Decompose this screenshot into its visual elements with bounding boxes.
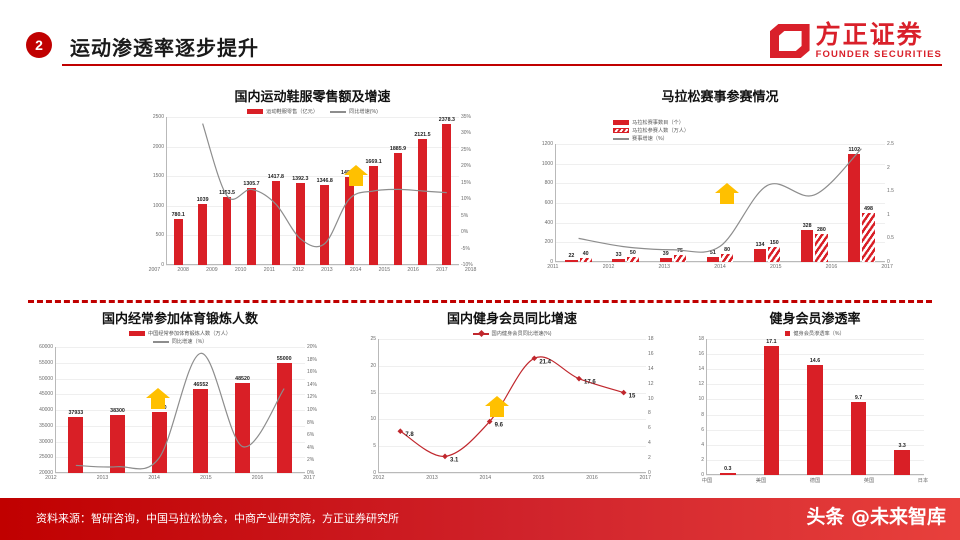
x-axis-tick: 2014 [459, 475, 512, 481]
secondary-y-axis-tick: 2 [648, 455, 651, 461]
legend-item: 运动鞋服零售（亿元） [247, 108, 318, 115]
y-axis-tick: 20000 [39, 470, 53, 476]
chart-legend: 马拉松赛事数目（个） 马拉松参赛人数（万人） 赛事增速（%） [525, 119, 915, 142]
legend-swatch-bar [613, 120, 629, 125]
logo-chinese-name: 方正证券 [816, 22, 942, 47]
x-axis-tick: 2010 [226, 267, 255, 273]
logo-mark-icon [770, 24, 810, 58]
secondary-y-axis-tick: 10% [461, 196, 471, 202]
legend-item: 马拉松赛事数目（个） [613, 119, 684, 126]
secondary-y-axis: 35%30%25%20%15%10%5%0%-5%-10% [459, 117, 487, 265]
legend-swatch-bar [247, 109, 263, 114]
y-axis-tick: 12 [698, 381, 704, 387]
chart-gym-penetration: 健身会员渗透率 健身会员渗透率（%） 1816141210864200.317.… [680, 308, 950, 498]
data-point-marker [576, 376, 582, 382]
secondary-y-axis-tick: 1.5 [887, 188, 894, 194]
secondary-y-axis: 181614121086420 [646, 339, 674, 473]
legend-label: 同比增速(%) [349, 108, 378, 115]
page-title: 运动渗透率逐步提升 [70, 32, 259, 61]
plot-area: 6000055000500004500040000350003000025000… [55, 347, 305, 473]
data-point-marker [621, 390, 627, 396]
secondary-y-axis-tick: 30% [461, 130, 471, 136]
x-axis-tick: 2016 [804, 264, 860, 270]
x-axis-labels: 201220132014201520162017 [25, 475, 335, 481]
legend-swatch-line [330, 111, 346, 113]
secondary-y-axis-tick: -5% [461, 246, 470, 252]
line-series-layer: 7.83.19.621.417.615 [378, 339, 646, 473]
secondary-y-axis-tick: 2.5 [887, 141, 894, 147]
data-point-label: 7.8 [405, 432, 414, 438]
x-axis-tick: 德国 [788, 477, 842, 484]
up-arrow-icon [484, 395, 510, 419]
chart-legend: 健身会员渗透率（%） [680, 330, 950, 337]
secondary-y-axis-tick: 20% [461, 163, 471, 169]
secondary-y-axis-tick: 0% [461, 229, 468, 235]
x-axis-tick: 2013 [405, 475, 458, 481]
x-axis-tick: 2015 [370, 267, 399, 273]
chart-sportswear-retail: 国内运动鞋服零售额及增速 运动鞋服零售（亿元） 同比增速(%) 25002000… [140, 86, 485, 291]
legend-label: 国内健身会员同比增速(%) [492, 330, 552, 337]
y-axis-tick: 25000 [39, 454, 53, 460]
y-axis-tick: 60000 [39, 344, 53, 350]
y-axis-tick: 500 [156, 232, 164, 238]
data-point-label: 9.6 [495, 423, 504, 429]
x-axis-tick: 2017 [619, 475, 672, 481]
data-point-marker [442, 454, 448, 460]
legend-item: 国内健身会员同比增速(%) [473, 330, 552, 337]
y-axis-tick: 1200 [542, 141, 553, 147]
chart-sports-participants: 国内经常参加体育锻炼人数 中国经常参加体育锻炼人数（万人） 同比增速（%） 60… [25, 308, 335, 498]
up-arrow-icon [714, 182, 740, 206]
x-axis-tick: 2014 [341, 267, 370, 273]
secondary-y-axis-tick: 16% [307, 369, 317, 375]
legend-label: 中国经常参加体育锻炼人数（万人） [148, 330, 231, 337]
up-arrow-icon [343, 164, 369, 188]
y-axis-tick: 600 [545, 200, 553, 206]
y-axis-tick: 25 [370, 336, 376, 342]
secondary-y-axis-tick: 1 [887, 212, 890, 218]
secondary-y-axis-tick: 6 [648, 425, 651, 431]
y-axis-tick: 2500 [153, 114, 164, 120]
chart-legend: 运动鞋服零售（亿元） 同比增速(%) [140, 108, 485, 115]
data-point-label: 17.6 [584, 380, 596, 386]
secondary-y-axis-tick: 12% [307, 394, 317, 400]
x-axis-tick: 2013 [313, 267, 342, 273]
legend-label: 马拉松参赛人数（万人） [632, 127, 689, 134]
title-underline [62, 64, 942, 66]
y-axis-tick: 2 [701, 457, 704, 463]
y-axis-tick: 1000 [153, 203, 164, 209]
y-axis-tick: 10 [698, 396, 704, 402]
y-axis-tick: 800 [545, 180, 553, 186]
secondary-y-axis-tick: 18% [307, 357, 317, 363]
x-axis-tick: 2015 [512, 475, 565, 481]
secondary-y-axis-tick: 5% [461, 213, 468, 219]
secondary-y-axis-tick: 12 [648, 381, 654, 387]
x-axis-tick: 2015 [748, 264, 804, 270]
x-axis-tick: 2016 [232, 475, 284, 481]
x-axis-tick: 2015 [180, 475, 232, 481]
x-axis-tick: 2013 [77, 475, 129, 481]
legend-item: 马拉松参赛人数（万人） [613, 127, 689, 134]
series-line [76, 353, 284, 469]
chart-title: 健身会员渗透率 [680, 308, 950, 327]
plot-area: 2500200015001000500035%30%25%20%15%10%5%… [166, 117, 459, 265]
line-series-layer [55, 347, 305, 473]
y-axis-tick: 20 [370, 363, 376, 369]
secondary-y-axis-tick: 16 [648, 351, 654, 357]
y-axis-tick: 200 [545, 239, 553, 245]
section-number-badge: 2 [26, 32, 52, 58]
chart-legend: 中国经常参加体育锻炼人数（万人） 同比增速（%） [25, 330, 335, 345]
x-axis-tick: 2009 [198, 267, 227, 273]
secondary-y-axis-tick: 10 [648, 396, 654, 402]
y-axis: 25002000150010005000 [138, 117, 166, 265]
x-axis-labels: 2007200820092010201120122013201420152016… [140, 267, 485, 273]
x-axis-tick: 2013 [636, 264, 692, 270]
secondary-y-axis-tick: 10% [307, 407, 317, 413]
legend-label: 马拉松赛事数目（个） [632, 119, 684, 126]
y-axis-tick: 50000 [39, 376, 53, 382]
chart-title: 马拉松赛事参赛情况 [525, 86, 915, 105]
x-axis-tick: 2012 [352, 475, 405, 481]
secondary-y-axis-tick: 2% [307, 457, 314, 463]
plot-area: 1200100080060040020002.521.510.502240335… [555, 144, 885, 262]
up-arrow-icon [145, 387, 171, 411]
slide-header: 2 运动渗透率逐步提升 方正证券 FOUNDER SECURITIES [0, 0, 960, 72]
secondary-y-axis-tick: 35% [461, 114, 471, 120]
legend-swatch-line [153, 341, 169, 343]
x-axis-tick: 2016 [399, 267, 428, 273]
gridline [166, 265, 459, 266]
legend-item: 同比增速(%) [330, 108, 378, 115]
secondary-y-axis-tick: 8 [648, 410, 651, 416]
y-axis-tick: 16 [698, 351, 704, 357]
secondary-y-axis-tick: -10% [461, 262, 473, 268]
y-axis-tick: 5 [373, 443, 376, 449]
secondary-y-axis-tick: 25% [461, 147, 471, 153]
secondary-y-axis: 20%18%16%14%12%10%8%6%4%2%0% [305, 347, 333, 473]
watermark-label: 头条 @未来智库 [806, 502, 946, 529]
chart-title: 国内运动鞋服零售额及增速 [140, 86, 485, 105]
y-axis-tick: 0 [373, 470, 376, 476]
gridline [55, 473, 305, 474]
x-axis-tick: 2017 [428, 267, 457, 273]
secondary-y-axis-tick: 2 [887, 165, 890, 171]
x-axis-labels: 2011201220132014201520162017 [525, 264, 915, 270]
legend-label: 运动鞋服零售（亿元） [266, 108, 318, 115]
gridline [555, 262, 885, 263]
y-axis: 120010008006004002000 [527, 144, 555, 262]
secondary-y-axis-tick: 4 [648, 440, 651, 446]
secondary-y-axis-tick: 14% [307, 382, 317, 388]
legend-swatch-line [613, 138, 629, 140]
series-line [400, 357, 623, 457]
y-axis: 181614121086420 [678, 339, 706, 475]
secondary-y-axis-tick: 4% [307, 445, 314, 451]
y-axis-tick: 2000 [153, 144, 164, 150]
section-divider [28, 300, 932, 303]
x-axis-tick: 2011 [255, 267, 284, 273]
legend-label: 赛事增速（%） [632, 135, 668, 142]
legend-swatch-hatch [613, 128, 629, 133]
legend-item: 同比增速（%） [153, 338, 208, 345]
data-point-label: 21.4 [539, 359, 551, 365]
secondary-y-axis-tick: 0.5 [887, 235, 894, 241]
legend-label: 同比增速（%） [172, 338, 208, 345]
data-point-label: 3.1 [450, 457, 459, 463]
x-axis-tick: 美国 [734, 477, 788, 484]
slide-footer: 资料来源：智研咨询，中国马拉松协会，中商产业研究院，方正证券研究所 头条 @未来… [0, 498, 960, 540]
secondary-y-axis-tick: 20% [307, 344, 317, 350]
x-axis-tick: 2007 [140, 267, 169, 273]
secondary-y-axis: 2.521.510.50 [885, 144, 913, 262]
x-axis-tick: 2014 [692, 264, 748, 270]
x-axis-tick: 中国 [680, 477, 734, 484]
y-axis-tick: 8 [701, 412, 704, 418]
source-note: 资料来源：智研咨询，中国马拉松协会，中商产业研究院，方正证券研究所 [36, 510, 399, 526]
gridline [706, 475, 924, 476]
y-axis-tick: 14 [698, 366, 704, 372]
founder-securities-logo: 方正证券 FOUNDER SECURITIES [770, 18, 942, 64]
chart-marathon-events: 马拉松赛事参赛情况 马拉松赛事数目（个） 马拉松参赛人数（万人） 赛事增速（%）… [525, 86, 915, 291]
legend-item: 健身会员渗透率（%） [785, 330, 844, 337]
y-axis-tick: 35000 [39, 423, 53, 429]
data-point-label: 15 [629, 394, 636, 400]
y-axis-tick: 0 [161, 262, 164, 268]
x-axis-tick: 2012 [284, 267, 313, 273]
y-axis-tick: 40000 [39, 407, 53, 413]
secondary-y-axis-tick: 8% [307, 420, 314, 426]
y-axis-tick: 1000 [542, 161, 553, 167]
line-series-layer [166, 117, 459, 265]
legend-label: 健身会员渗透率（%） [793, 330, 844, 337]
chart-title: 国内健身会员同比增速 [352, 308, 672, 327]
y-axis-tick: 6 [701, 427, 704, 433]
line-series-layer [706, 339, 924, 475]
gridline [378, 473, 646, 474]
x-axis-labels: 201220132014201520162017 [352, 475, 672, 481]
chart-legend: 国内健身会员同比增速(%) [352, 330, 672, 337]
y-axis-tick: 1500 [153, 173, 164, 179]
x-axis-tick: 2008 [169, 267, 198, 273]
secondary-y-axis-tick: 14 [648, 366, 654, 372]
chart-gym-member-growth: 国内健身会员同比增速 国内健身会员同比增速(%) 252015105018161… [352, 308, 672, 498]
plot-area: 1816141210864200.317.114.69.73.3 [706, 339, 924, 475]
series-line [203, 124, 447, 247]
y-axis-tick: 45000 [39, 391, 53, 397]
x-axis-tick: 英国 [842, 477, 896, 484]
secondary-y-axis-tick: 0 [887, 259, 890, 265]
secondary-y-axis-tick: 0 [648, 470, 651, 476]
legend-swatch-square [785, 331, 790, 336]
x-axis-tick: 日本 [896, 477, 950, 484]
data-point-marker [532, 355, 538, 361]
secondary-y-axis-tick: 15% [461, 180, 471, 186]
secondary-y-axis-tick: 0% [307, 470, 314, 476]
y-axis-tick: 55000 [39, 360, 53, 366]
y-axis-tick: 18 [698, 336, 704, 342]
y-axis: 6000055000500004500040000350003000025000… [27, 347, 55, 473]
x-axis-tick: 2012 [581, 264, 637, 270]
x-axis-tick: 2016 [565, 475, 618, 481]
legend-swatch-bar [129, 331, 145, 336]
y-axis: 2520151050 [350, 339, 378, 473]
legend-item: 中国经常参加体育锻炼人数（万人） [129, 330, 231, 337]
x-axis-labels: 中国美国德国英国日本 [680, 477, 950, 484]
y-axis-tick: 0 [550, 259, 553, 265]
y-axis-tick: 4 [701, 442, 704, 448]
x-axis-tick: 2014 [128, 475, 180, 481]
slide: 2 运动渗透率逐步提升 方正证券 FOUNDER SECURITIES 国内运动… [0, 0, 960, 540]
chart-title: 国内经常参加体育锻炼人数 [25, 308, 335, 327]
legend-swatch-line [473, 333, 489, 335]
logo-english-name: FOUNDER SECURITIES [816, 50, 942, 60]
secondary-y-axis-tick: 18 [648, 336, 654, 342]
y-axis-tick: 400 [545, 220, 553, 226]
secondary-y-axis-tick: 6% [307, 432, 314, 438]
y-axis-tick: 10 [370, 416, 376, 422]
legend-item: 赛事增速（%） [613, 135, 668, 142]
y-axis-tick: 0 [701, 472, 704, 478]
y-axis-tick: 30000 [39, 439, 53, 445]
y-axis-tick: 15 [370, 390, 376, 396]
plot-area: 25201510501816141210864207.83.19.621.417… [378, 339, 646, 473]
